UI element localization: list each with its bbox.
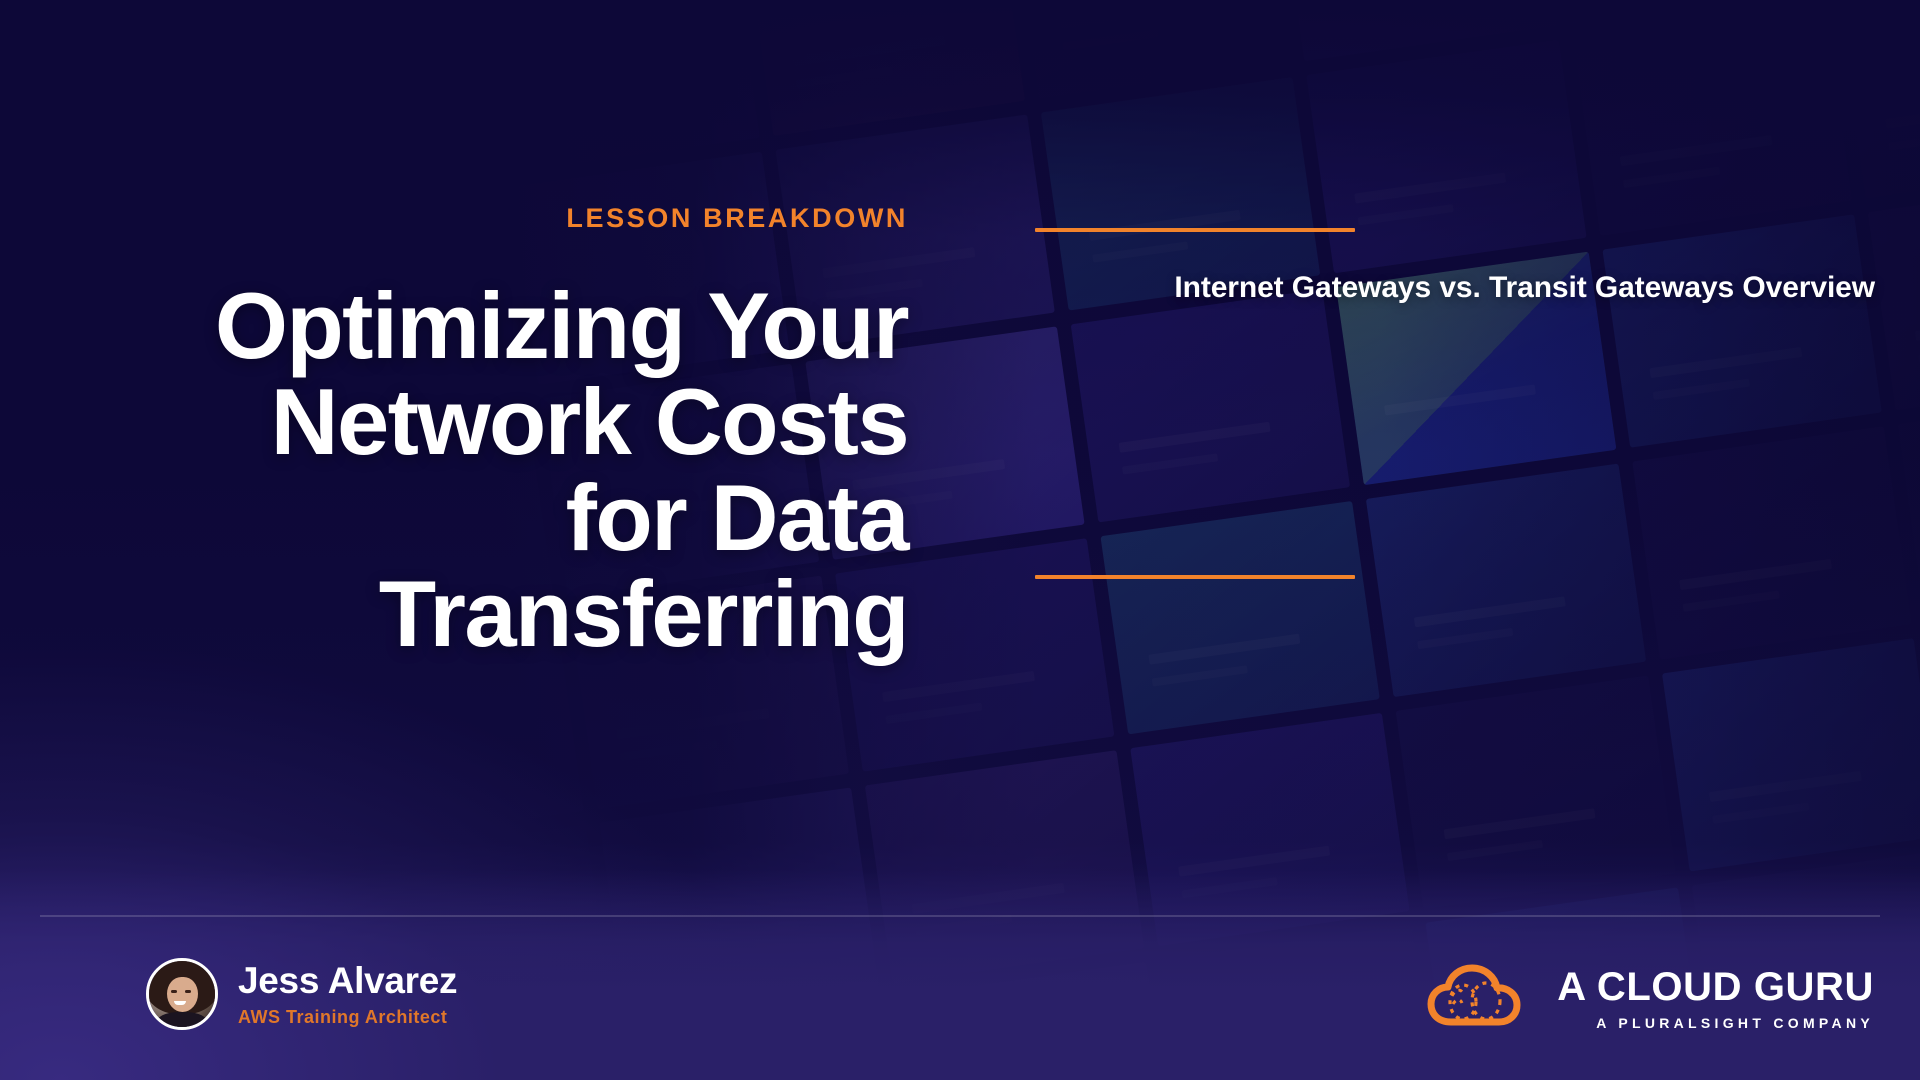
- topic-rule-top: [1035, 228, 1355, 232]
- avatar-eye-right: [185, 990, 191, 993]
- topic-block: Internet Gateways vs. Transit Gateways O…: [1035, 228, 1875, 579]
- title-line: Transferring: [160, 566, 908, 662]
- title-block: LESSON BREAKDOWN Optimizing Your Network…: [160, 205, 908, 662]
- presenter-block: Jess Alvarez AWS Training Architect: [146, 958, 457, 1030]
- logo-name: A CLOUD GURU: [1557, 967, 1874, 1007]
- eyebrow-label: LESSON BREAKDOWN: [160, 205, 908, 232]
- lesson-slide: LESSON BREAKDOWN Optimizing Your Network…: [0, 0, 1920, 1080]
- brand-logo: A CLOUD GURU A PLURALSIGHT COMPANY: [1427, 960, 1874, 1037]
- page-title: Optimizing Your Network Costs for Data T…: [160, 278, 908, 662]
- topic-label: Internet Gateways vs. Transit Gateways O…: [1035, 268, 1875, 307]
- topic-rule-bottom: [1035, 575, 1355, 579]
- cloud-guru-icon: [1427, 960, 1535, 1037]
- title-line: Optimizing Your: [160, 278, 908, 374]
- presenter-role: AWS Training Architect: [238, 1008, 457, 1026]
- presenter-text: Jess Alvarez AWS Training Architect: [238, 962, 457, 1026]
- title-line: Network Costs: [160, 374, 908, 470]
- avatar-eye-left: [171, 990, 177, 993]
- presenter-name: Jess Alvarez: [238, 962, 457, 999]
- footer-divider: [40, 915, 1880, 917]
- avatar-shoulders: [156, 1012, 209, 1030]
- logo-tagline: A PLURALSIGHT COMPANY: [1557, 1016, 1874, 1030]
- logo-wordmark: A CLOUD GURU A PLURALSIGHT COMPANY: [1557, 967, 1874, 1030]
- title-line: for Data: [160, 470, 908, 566]
- avatar: [146, 958, 218, 1030]
